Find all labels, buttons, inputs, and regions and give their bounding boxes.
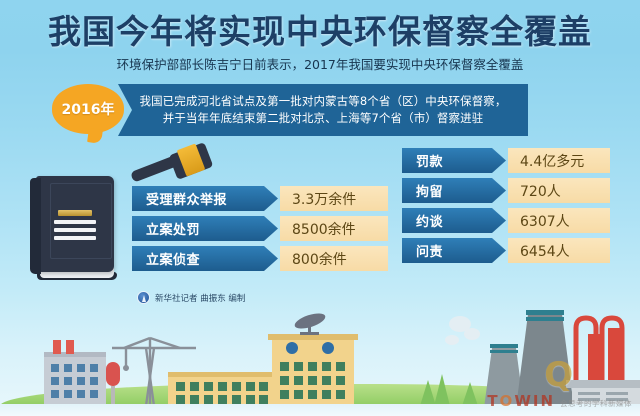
watermark-brand: TOWIN <box>487 392 555 410</box>
watermark-tagline: 会思考的学科新媒体 <box>560 398 632 409</box>
page-title: 我国今年将实现中央环保督察全覆盖 <box>0 12 640 52</box>
page-subtitle: 环境保护部部长陈吉宁日前表示，2017年我国要实现中央环保督察全覆盖 <box>0 56 640 74</box>
law-book-illustration <box>30 176 116 280</box>
stats-list-right: 罚款 4.4亿多元 拘留 720人 约谈 6307人 问责 6454人 <box>402 148 610 268</box>
book-rule-1 <box>54 220 96 224</box>
watermark: Q TOWIN 会思考的学科新媒体 <box>487 358 632 410</box>
infographic-poster: 我国今年将实现中央环保督察全覆盖 环境保护部部长陈吉宁日前表示，2017年我国要… <box>0 0 640 416</box>
watermark-mark: Q <box>487 358 632 392</box>
book-rule-2 <box>54 228 96 232</box>
watermark-brand-t: T <box>487 392 499 410</box>
banner-line-2: 并于当年年底结束第二批对北京、上海等7个省（市）督察进驻 <box>163 110 484 127</box>
stat-label: 约谈 <box>402 208 506 233</box>
stat-value: 8500余件 <box>280 216 388 241</box>
crane-hook <box>123 365 129 371</box>
stat-label: 立案处罚 <box>132 216 278 241</box>
stat-label: 问责 <box>402 238 506 263</box>
year-badge: 2016年 <box>52 84 124 134</box>
banner-line-1: 我国已完成河北省试点及第一批对内蒙古等8个省（区）中央环保督察， <box>139 93 506 110</box>
stat-label: 立案侦查 <box>132 246 278 271</box>
stat-value: 800余件 <box>280 246 388 271</box>
stat-row: 立案侦查 800余件 <box>132 246 388 271</box>
stat-row: 立案处罚 8500余件 <box>132 216 388 241</box>
stat-value: 6454人 <box>508 238 610 263</box>
xinhua-logo-icon <box>137 291 150 304</box>
book-rule-3 <box>54 236 96 240</box>
stat-value: 3.3万余件 <box>280 186 388 211</box>
book-cover <box>36 176 114 272</box>
satellite-dish-icon <box>293 310 327 335</box>
watermark-brand-rest: WIN <box>514 392 555 410</box>
building-yellow-low <box>168 372 272 408</box>
credit-text: 新华社记者 曲振东 编制 <box>155 292 245 304</box>
building-grey-left <box>44 340 106 408</box>
year-badge-label: 2016年 <box>62 99 115 119</box>
stat-row: 问责 6454人 <box>402 238 610 263</box>
book-spine <box>30 178 41 274</box>
red-tank <box>106 362 120 406</box>
stat-row: 罚款 4.4亿多元 <box>402 148 610 173</box>
summary-banner: 我国已完成河北省试点及第一批对内蒙古等8个省（区）中央环保督察， 并于当年年底结… <box>118 84 528 136</box>
credit-line: 新华社记者 曲振东 编制 <box>137 291 245 304</box>
stat-row: 约谈 6307人 <box>402 208 610 233</box>
stats-list-left: 受理群众举报 3.3万余件 立案处罚 8500余件 立案侦查 800余件 <box>132 186 388 276</box>
watermark-brand-o: O <box>500 392 515 410</box>
stat-value: 720人 <box>508 178 610 203</box>
stat-row: 拘留 720人 <box>402 178 610 203</box>
building-yellow-tall <box>268 334 358 408</box>
book-gold-band <box>58 210 92 216</box>
smoke-cloud <box>445 316 480 345</box>
gavel-icon <box>132 146 216 196</box>
stat-label: 罚款 <box>402 148 506 173</box>
stat-label: 拘留 <box>402 178 506 203</box>
stat-value: 6307人 <box>508 208 610 233</box>
stat-value: 4.4亿多元 <box>508 148 610 173</box>
